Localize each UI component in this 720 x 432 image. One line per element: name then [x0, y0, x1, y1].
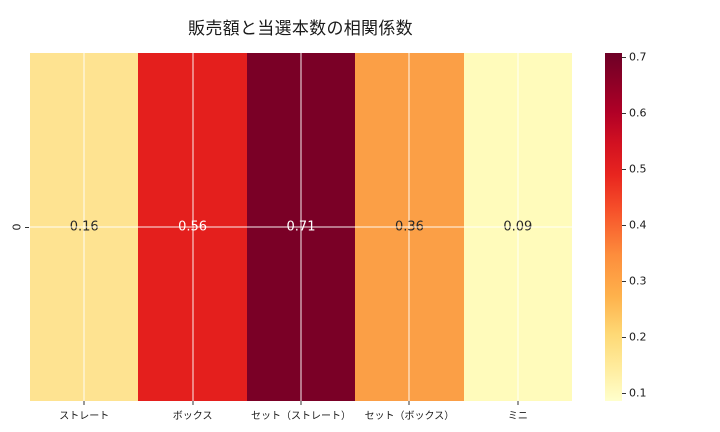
colorbar-tick-label: 0.5 — [629, 163, 647, 176]
colorbar-tick-mark — [622, 281, 626, 282]
y-axis-tick-label: 0 — [11, 220, 24, 234]
heatmap-cell[interactable]: 0.16 — [30, 53, 138, 401]
colorbar-tick-label: 0.4 — [629, 219, 647, 232]
heatmap-cell[interactable]: 0.09 — [464, 53, 572, 401]
cell-value-label: 0.56 — [138, 221, 246, 234]
cell-value-label: 0.71 — [247, 221, 355, 234]
heatmap-figure: 販売額と当選本数の相関係数 0.16 0.56 0.71 0.36 0.09 0 — [0, 0, 720, 432]
cell-value-label: 0.16 — [30, 221, 138, 234]
cell-value-label: 0.09 — [464, 221, 572, 234]
colorbar-tick-mark — [622, 225, 626, 226]
heatmap-cell[interactable]: 0.56 — [138, 53, 246, 401]
colorbar-tick-mark — [622, 393, 626, 394]
colorbar: 0.7 0.6 0.5 0.4 0.3 0.2 0.1 — [605, 53, 622, 401]
x-axis-tick-mark — [301, 401, 302, 405]
x-axis-tick-mark — [192, 401, 193, 405]
x-axis-tick-mark — [409, 401, 410, 405]
colorbar-tick-label: 0.3 — [629, 275, 647, 288]
colorbar-tick-mark — [622, 113, 626, 114]
x-axis: ストレート ボックス セット（ストレート） セット（ボックス） ミニ — [30, 401, 572, 431]
colorbar-gradient — [605, 53, 622, 401]
page-title: 販売額と当選本数の相関係数 — [0, 14, 601, 39]
y-axis-tick-mark — [25, 227, 29, 228]
colorbar-tick-label: 0.2 — [629, 331, 647, 344]
colorbar-tick-label: 0.6 — [629, 107, 647, 120]
x-axis-tick-mark — [517, 401, 518, 405]
colorbar-tick-label: 0.7 — [629, 51, 647, 64]
colorbar-tick-mark — [622, 57, 626, 58]
x-axis-tick-mini: ミニ — [464, 401, 572, 431]
heatmap-cell[interactable]: 0.36 — [355, 53, 463, 401]
x-axis-tick-mark — [84, 401, 85, 405]
colorbar-tick-mark — [622, 169, 626, 170]
cell-value-label: 0.36 — [355, 221, 463, 234]
colorbar-tick-mark — [622, 337, 626, 338]
x-axis-tick-label: ミニ — [434, 407, 602, 422]
heatmap-plot-area: 0.16 0.56 0.71 0.36 0.09 — [30, 53, 572, 401]
heatmap-cell[interactable]: 0.71 — [247, 53, 355, 401]
colorbar-tick-label: 0.1 — [629, 387, 647, 400]
